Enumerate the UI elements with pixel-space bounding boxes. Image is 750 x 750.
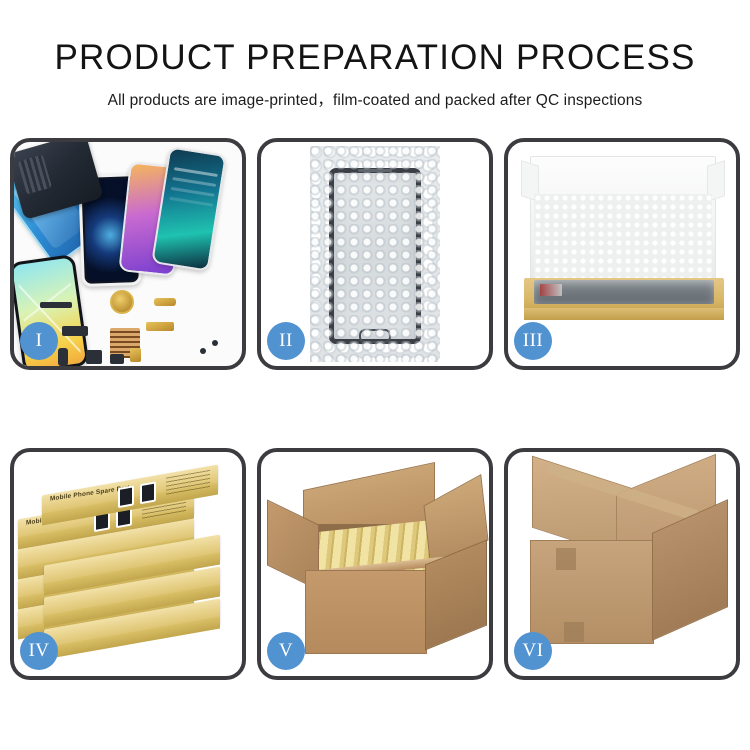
flex-cable-part	[40, 302, 72, 308]
battery-connector-part	[58, 348, 68, 366]
panel-step-6: VI	[504, 448, 740, 680]
panel-step-1: I	[10, 138, 246, 370]
carton-corner-tab	[556, 548, 576, 570]
kraft-box-front-lip	[524, 308, 724, 320]
panel-step-3: III	[504, 138, 740, 370]
screw-part	[200, 348, 206, 354]
badge-step-2: II	[267, 322, 305, 360]
steps-grid: I II III	[10, 138, 740, 680]
vibrator-part	[86, 350, 102, 364]
panel-step-2: II	[257, 138, 493, 370]
wrapped-screen-in-box	[534, 280, 714, 304]
carton-front-face	[530, 540, 654, 644]
phone-icon	[118, 485, 134, 508]
page-subtitle: All products are image-printed，film-coat…	[0, 88, 750, 110]
panel-step-4: Mobile Phone Spare Parts	[10, 448, 246, 680]
screw-part	[212, 340, 218, 346]
bubble-wrap-texture	[310, 146, 440, 362]
panel-step-5: V	[257, 448, 493, 680]
product-preparation-infographic: PRODUCT PREPARATION PROCESS All products…	[0, 0, 750, 750]
badge-step-1: I	[20, 322, 58, 360]
header: PRODUCT PREPARATION PROCESS All products…	[0, 0, 750, 110]
speaker-coil-part	[110, 290, 134, 314]
bubble-wrap-sheet	[310, 146, 440, 362]
sim-tray-part	[130, 348, 141, 362]
badge-step-3: III	[514, 322, 552, 360]
foam-padding	[534, 194, 712, 280]
carton-corner-tab	[564, 622, 584, 642]
small-ic-part	[62, 326, 88, 336]
badge-step-5: V	[267, 632, 305, 670]
page-title: PRODUCT PREPARATION PROCESS	[0, 38, 750, 78]
gold-connector-part	[154, 298, 176, 306]
carton-front-face	[305, 570, 427, 654]
badge-step-6: VI	[514, 632, 552, 670]
badge-step-4: IV	[20, 632, 58, 670]
camera-flex-part	[146, 322, 174, 331]
phone-icon	[140, 481, 156, 504]
button-part	[110, 354, 124, 364]
